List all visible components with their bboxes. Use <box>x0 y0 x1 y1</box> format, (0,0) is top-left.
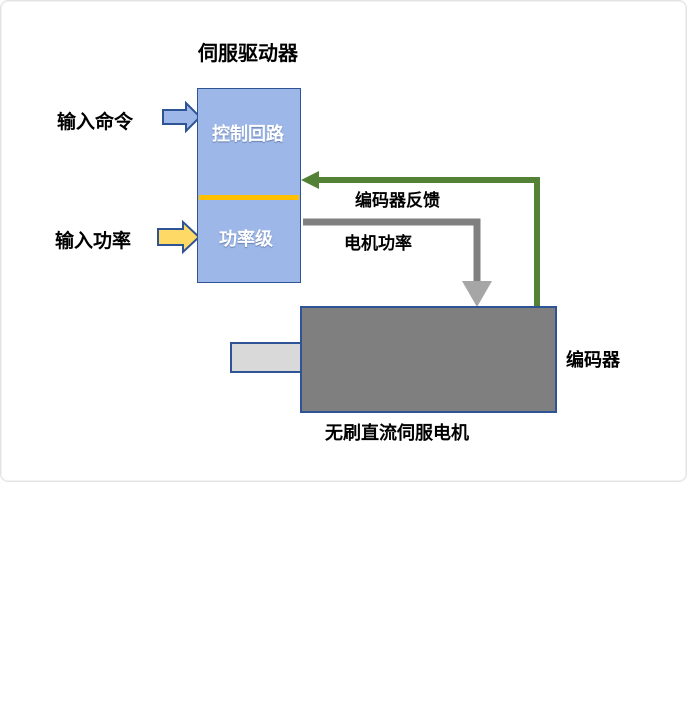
input-command-label: 输入命令 <box>57 107 133 134</box>
motor-power-label: 电机功率 <box>344 229 412 254</box>
power-stage-label: 功率级 <box>219 225 273 251</box>
encoder-feedback-label: 编码器反馈 <box>355 186 440 211</box>
encoder-label: 编码器 <box>566 346 620 372</box>
driver-stage-divider <box>199 195 299 200</box>
motor-label: 无刷直流伺服电机 <box>325 419 469 445</box>
motor-shaft <box>230 342 302 373</box>
input-power-arrow <box>158 222 199 252</box>
input-power-label: 输入功率 <box>55 226 131 253</box>
servo-driver-box[interactable] <box>197 88 301 283</box>
servo-driver-title: 伺服驱动器 <box>198 37 298 66</box>
brushless-dc-motor-body[interactable] <box>300 306 557 413</box>
input-command-arrow <box>163 103 200 131</box>
control-circuit-label: 控制回路 <box>212 120 284 146</box>
